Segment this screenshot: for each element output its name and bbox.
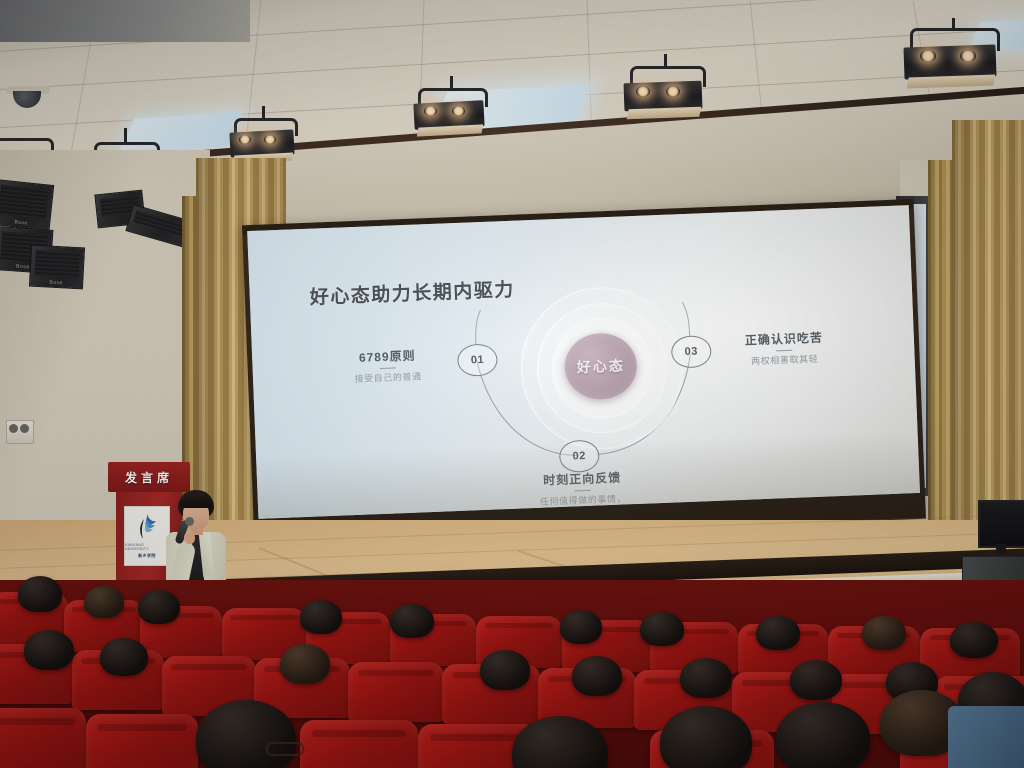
audience-head [640, 612, 684, 646]
presenter-hand [184, 532, 195, 544]
label-divider [380, 367, 396, 369]
seat [0, 708, 86, 768]
audience-head [100, 638, 148, 676]
presenter-hair-front [180, 496, 212, 508]
node-number: 01 [471, 354, 485, 367]
seat [348, 662, 444, 722]
projection-screen: 好心态助力长期内驱力 好心态 [242, 199, 926, 545]
screen-surface: 好心态助力长期内驱力 好心态 [247, 205, 920, 519]
audience-head [138, 590, 180, 624]
audience-head [776, 702, 870, 768]
node-01-label: 6789原则 接受自己的普通 [312, 345, 463, 387]
auditorium-photo: Bose Bose Bose 学 电 子 信 息 工 程 学 院 好心态助力长期… [0, 0, 1024, 768]
node-03-label: 正确认识吃苦 两权相害取其轻 [704, 327, 865, 369]
microphone-head [185, 517, 194, 526]
podium-sign-text: 发言席 [125, 469, 173, 486]
stage-light-fixture [902, 28, 1002, 98]
blue-wing-emblem-icon [136, 513, 158, 541]
audience-shirt [948, 706, 1024, 768]
label-divider [776, 350, 792, 352]
wall-outlet[interactable] [6, 420, 34, 444]
podium-sign: 发言席 [108, 462, 190, 492]
wall-speaker: Bose [29, 245, 85, 290]
seat [300, 720, 418, 768]
monitor-stand [996, 544, 1006, 554]
presentation-slide: 好心态助力长期内驱力 好心态 [247, 205, 920, 519]
audience-head [660, 706, 752, 768]
center-hub: 好心态 [518, 284, 684, 450]
audience-head [24, 630, 74, 670]
audience-head [790, 660, 842, 700]
control-monitor [978, 500, 1024, 548]
audience-head [680, 658, 732, 698]
stage-light-fixture [412, 88, 490, 146]
audience-head [480, 650, 530, 690]
seat [86, 714, 198, 768]
audience-head [756, 616, 800, 650]
audience-head [862, 616, 906, 650]
audience-head [390, 604, 434, 638]
audience-head [300, 600, 342, 634]
eyeglasses [266, 742, 304, 756]
stage-light-fixture [622, 66, 708, 128]
hub-label: 好心态 [576, 355, 625, 377]
audience-head [196, 700, 296, 768]
audience-head [18, 576, 62, 612]
audience-head [84, 586, 124, 618]
audience-head [572, 656, 622, 696]
podium-logo-name: 新乡学院 [138, 553, 156, 559]
audience-head [560, 610, 602, 644]
wall-speaker: Bose [0, 179, 54, 231]
dome-security-camera-icon [6, 86, 50, 108]
node-number: 03 [684, 346, 698, 359]
audience-head [280, 644, 330, 684]
audience-head [950, 622, 998, 658]
ceiling-dark-panel [0, 0, 250, 42]
